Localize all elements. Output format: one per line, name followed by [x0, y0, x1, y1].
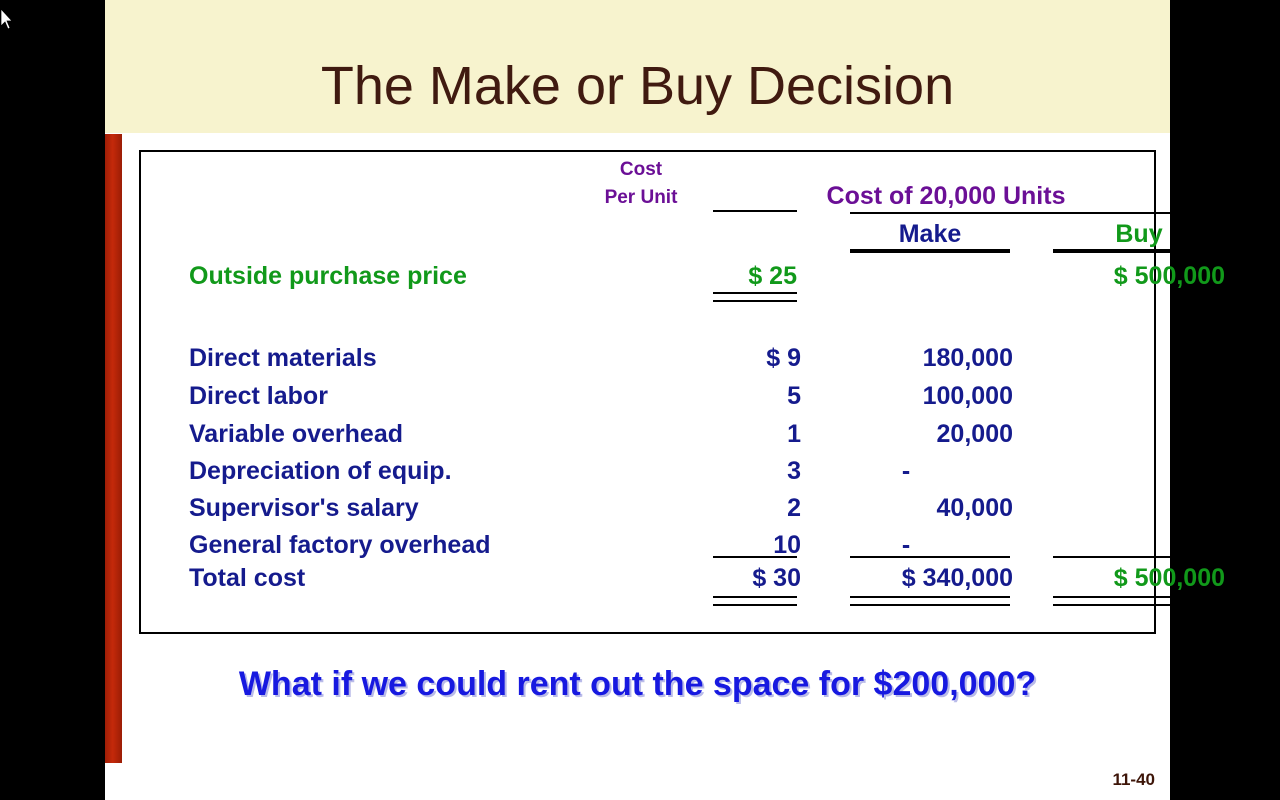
row-make-supervisors-salary: 40,000: [841, 496, 1013, 521]
header-cost-line1: Cost: [581, 160, 701, 179]
closing-question: What if we could rent out the space for …: [105, 665, 1170, 704]
page-title: The Make or Buy Decision: [105, 55, 1170, 117]
row-label-depreciation-of-equip: Depreciation of equip.: [189, 459, 452, 484]
row-label-supervisors-salary: Supervisor's salary: [189, 496, 419, 521]
title-banner: The Make or Buy Decision: [105, 0, 1170, 133]
rule-buy-header: [1053, 249, 1225, 253]
row-label-total-cost: Total cost: [189, 566, 305, 591]
row-label-direct-labor: Direct labor: [189, 384, 328, 409]
header-group-cost-of-units: Cost of 20,000 Units: [746, 184, 1146, 209]
row-per-unit-general-factory-overhead: 10: [677, 533, 801, 558]
row-label-direct-materials: Direct materials: [189, 346, 377, 371]
rule-total-top-per-unit: [713, 556, 797, 558]
rule-total-top-make: [850, 556, 1010, 558]
row-label-general-factory-overhead: General factory overhead: [189, 533, 491, 558]
row-buy-outside-purchase-price: $ 500,000: [1025, 264, 1225, 289]
row-make-direct-labor: 100,000: [841, 384, 1013, 409]
screen-backdrop: The Make or Buy Decision Cost Per Unit C…: [0, 0, 1280, 800]
rule-total-top-buy: [1053, 556, 1225, 558]
row-per-unit-depreciation-of-equip: 3: [677, 459, 801, 484]
row-label-outside-purchase-price: Outside purchase price: [189, 264, 467, 289]
rule-double-total-make: [850, 596, 1010, 606]
slide-number: 11-40: [1065, 770, 1155, 790]
row-buy-total-cost: $ 500,000: [1025, 566, 1225, 591]
row-per-unit-direct-labor: 5: [677, 384, 801, 409]
row-per-unit-total-cost: $ 30: [677, 566, 801, 591]
row-make-direct-materials: 180,000: [841, 346, 1013, 371]
header-make: Make: [850, 222, 1010, 247]
mouse-pointer-icon: [0, 8, 14, 32]
rule-double-total-buy: [1053, 596, 1225, 606]
header-buy: Buy: [1053, 222, 1225, 247]
rule-make-header: [850, 249, 1010, 253]
row-per-unit-outside-purchase-price: $ 25: [677, 264, 797, 289]
row-make-total-cost: $ 340,000: [841, 566, 1013, 591]
row-label-variable-overhead: Variable overhead: [189, 422, 403, 447]
rule-double-total-per-unit: [713, 596, 797, 606]
rule-double-outside-purchase-price: [713, 292, 797, 302]
presentation-slide: The Make or Buy Decision Cost Per Unit C…: [105, 0, 1170, 800]
row-per-unit-direct-materials: $ 9: [677, 346, 801, 371]
header-cost-line2: Per Unit: [581, 188, 701, 207]
row-make-general-factory-overhead: -: [841, 533, 971, 558]
row-per-unit-supervisors-salary: 2: [677, 496, 801, 521]
rule-per-unit-header: [713, 210, 797, 212]
row-make-depreciation-of-equip: -: [841, 459, 971, 484]
row-per-unit-variable-overhead: 1: [677, 422, 801, 447]
rule-group-header: [850, 212, 1225, 214]
cost-comparison-table: Cost Per Unit Cost of 20,000 Units Make …: [139, 150, 1156, 634]
row-make-variable-overhead: 20,000: [841, 422, 1013, 447]
